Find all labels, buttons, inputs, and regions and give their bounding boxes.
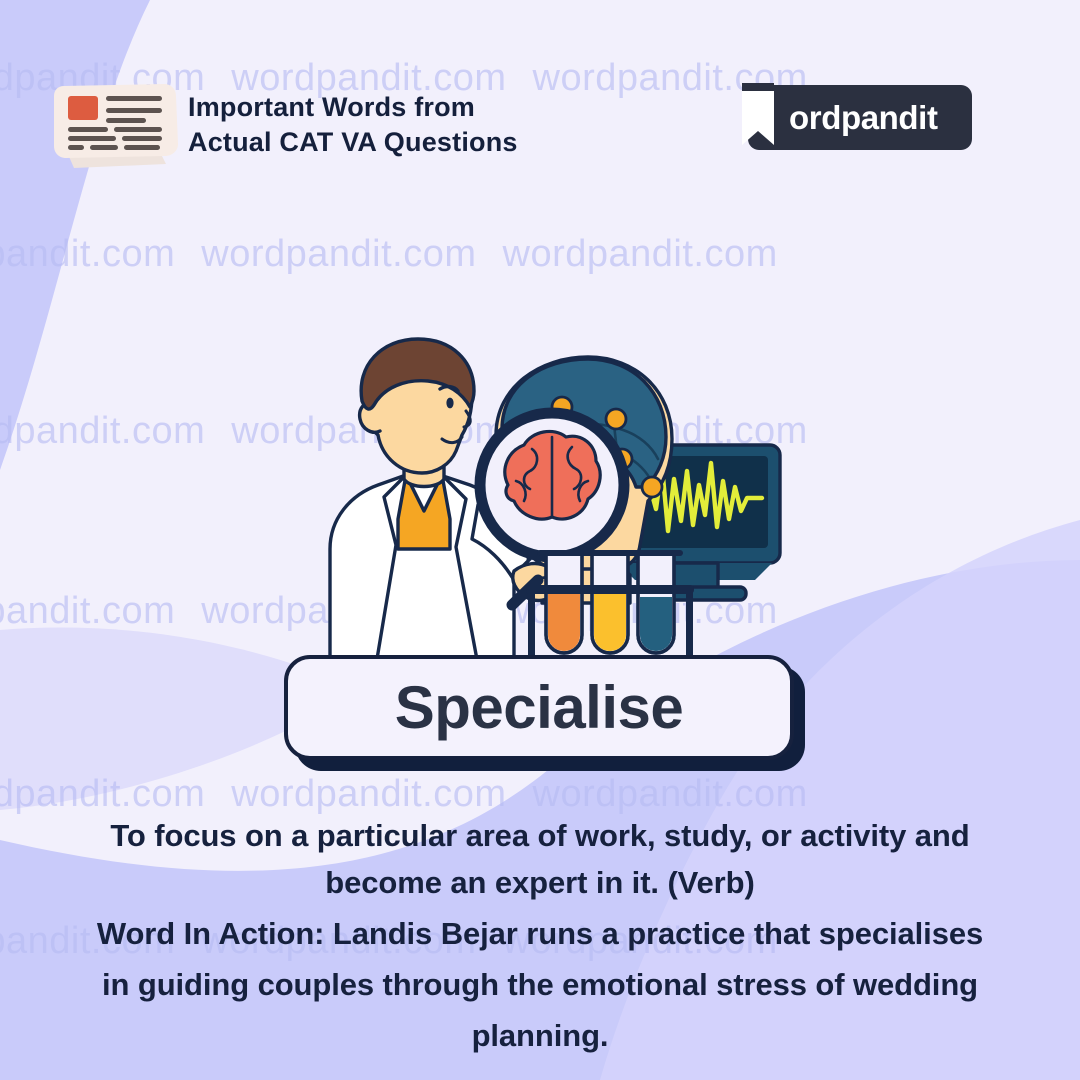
- page-title: Important Words from Actual CAT VA Quest…: [188, 90, 518, 160]
- page-title-line2: Actual CAT VA Questions: [188, 125, 518, 160]
- bookmark-w-icon: [736, 79, 780, 155]
- page-title-line1: Important Words from: [188, 92, 475, 122]
- word-card: wordpandit.comwordpandit.comwordpandit.c…: [0, 0, 1080, 1080]
- logo-text: ordpandit: [789, 99, 938, 137]
- test-tube-rack: [526, 553, 694, 667]
- test-tube-yellow: [594, 589, 626, 651]
- word-box: Specialise: [284, 655, 794, 760]
- headword: Specialise: [395, 678, 684, 738]
- definition-line-2: become an expert in it. (Verb): [22, 859, 1058, 906]
- definition-block: To focus on a particular area of work, s…: [22, 812, 1058, 1060]
- usage-line-1: Word In Action: Landis Bejar runs a prac…: [22, 910, 1058, 957]
- test-tube-blue: [640, 597, 672, 651]
- usage-line-3: planning.: [22, 1012, 1058, 1059]
- word-box-wrapper: Specialise: [284, 655, 794, 760]
- test-tube-orange: [548, 589, 580, 651]
- header: Important Words from Actual CAT VA Quest…: [0, 0, 1080, 190]
- doctor-examining-brain-illustration: [300, 335, 800, 675]
- usage-line-2: in guiding couples through the emotional…: [22, 961, 1058, 1008]
- watermark-row: wordpandit.comwordpandit.comwordpandit.c…: [0, 773, 834, 816]
- wordpandit-logo[interactable]: ordpandit: [748, 85, 972, 150]
- watermark-row: wordpandit.comwordpandit.comwordpandit.c…: [0, 233, 804, 276]
- definition-line-1: To focus on a particular area of work, s…: [22, 812, 1058, 859]
- newspaper-icon: [48, 78, 184, 174]
